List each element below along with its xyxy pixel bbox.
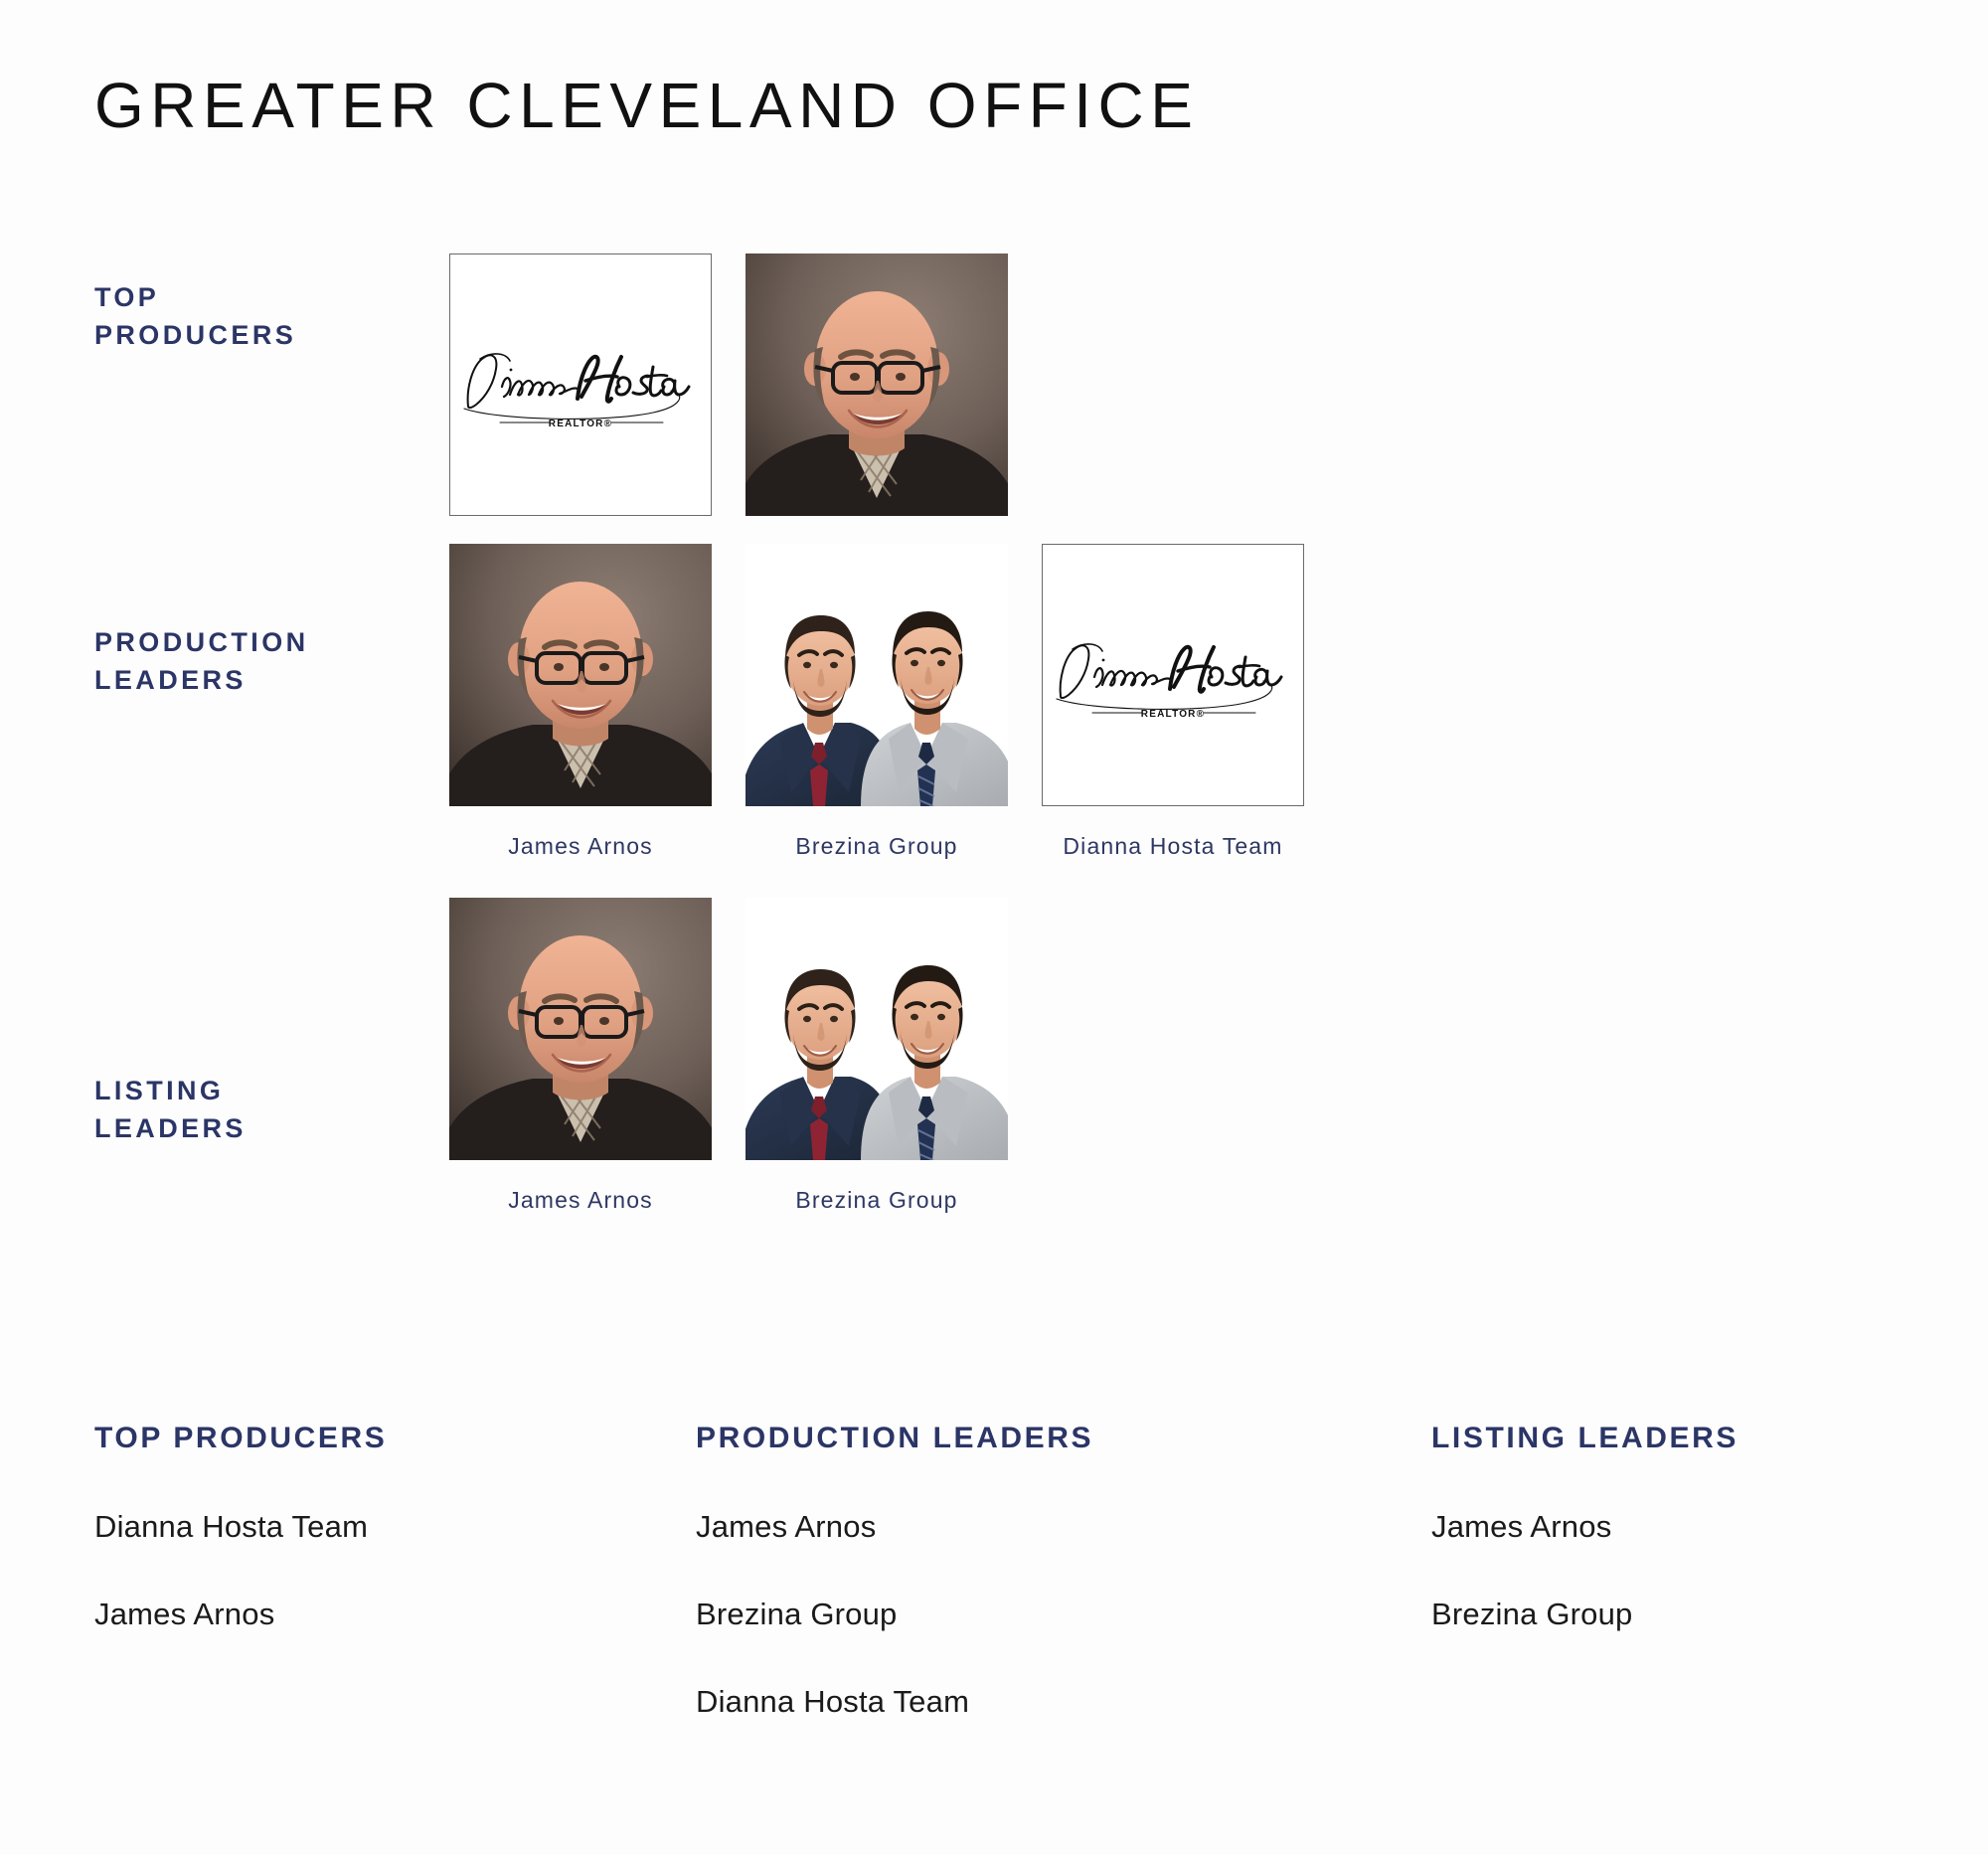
award-card-caption: Brezina Group [738,1184,1016,1217]
summary-heading: LISTING LEADERS [1431,1424,1948,1453]
award-card-dianna-hosta-team[interactable]: REALTOR® Dianna Hosta Team [449,253,712,573]
summary-list: James ArnosBrezina GroupDianna Hosta Tea… [696,1511,1372,1717]
award-rows: TOPPRODUCERS [0,253,1988,1188]
row-label-line: LEADERS [94,1109,393,1147]
list-item: James Arnos [1431,1511,1948,1542]
summary-section: TOP PRODUCERSDianna Hosta TeamJames Arno… [0,1424,1988,1841]
award-card-caption: James Arnos [441,1184,720,1217]
row-label-production-leaders: PRODUCTIONLEADERS [94,623,393,700]
award-row-production-leaders: PRODUCTIONLEADERS [0,544,1988,898]
list-item: Brezina Group [1431,1599,1948,1629]
award-thumbnail [745,898,1008,1160]
award-card-caption: Brezina Group [738,830,1016,863]
award-card-list: James Arnos [449,544,1304,863]
award-card-james-arnos[interactable]: James Arnos [449,898,712,1217]
summary-list: Dianna Hosta TeamJames Arnos [94,1511,651,1629]
row-label-line: PRODUCERS [94,316,393,354]
summary-list: James ArnosBrezina Group [1431,1511,1948,1629]
summary-heading: PRODUCTION LEADERS [696,1424,1372,1453]
award-thumbnail [745,253,1008,516]
award-thumbnail [449,544,712,806]
award-row-listing-leaders: LISTINGLEADERS [0,898,1988,1188]
award-thumbnail: REALTOR® [1042,544,1304,806]
list-item: Dianna Hosta Team [94,1511,651,1542]
row-label-line: TOP [94,278,393,316]
award-card-james-arnos[interactable]: James Arnos [449,544,712,863]
poster-page: GREATER CLEVELAND OFFICE TOPPRODUCERS [0,0,1988,1855]
summary-column-production-leaders: PRODUCTION LEADERSJames ArnosBrezina Gro… [696,1424,1372,1717]
dianna-hosta-logo-icon: REALTOR® [1051,627,1295,723]
award-card-caption: James Arnos [441,830,720,863]
row-label-listing-leaders: LISTINGLEADERS [94,1072,393,1148]
row-label-line: LISTING [94,1072,393,1109]
summary-column-listing-leaders: LISTING LEADERSJames ArnosBrezina Group [1431,1424,1948,1629]
award-card-list: James Arnos [449,898,1008,1217]
award-card-dianna-hosta-team[interactable]: REALTOR® Dianna Hosta Team [1042,544,1304,863]
portrait-photo-brezina-group [745,544,1008,806]
svg-text:REALTOR®: REALTOR® [1141,709,1205,720]
list-item: James Arnos [94,1599,651,1629]
list-item: Brezina Group [696,1599,1372,1629]
page-title: GREATER CLEVELAND OFFICE [94,74,1199,137]
svg-text:REALTOR®: REALTOR® [549,419,612,429]
dianna-hosta-logo-icon: REALTOR® [458,337,703,432]
portrait-photo-brezina-group [745,898,1008,1160]
award-row-top-producers: TOPPRODUCERS [0,253,1988,544]
award-thumbnail [745,544,1008,806]
award-card-list: REALTOR® Dianna Hosta Team [449,253,1008,573]
award-card-brezina-group[interactable]: Brezina Group [745,898,1008,1217]
award-thumbnail: REALTOR® [449,253,712,516]
award-card-caption: Dianna Hosta Team [1034,830,1312,863]
award-card-brezina-group[interactable]: Brezina Group [745,544,1008,863]
portrait-photo-james-arnos [745,253,1008,516]
portrait-photo-james-arnos [449,898,712,1160]
list-item: James Arnos [696,1511,1372,1542]
award-thumbnail [449,898,712,1160]
row-label-line: LEADERS [94,661,393,699]
summary-column-top-producers: TOP PRODUCERSDianna Hosta TeamJames Arno… [94,1424,651,1629]
list-item: Dianna Hosta Team [696,1686,1372,1717]
row-label-top-producers: TOPPRODUCERS [94,278,393,355]
row-label-line: PRODUCTION [94,623,393,661]
award-card-james-arnos[interactable]: James Arnos [745,253,1008,573]
portrait-photo-james-arnos [449,544,712,806]
summary-heading: TOP PRODUCERS [94,1424,651,1453]
